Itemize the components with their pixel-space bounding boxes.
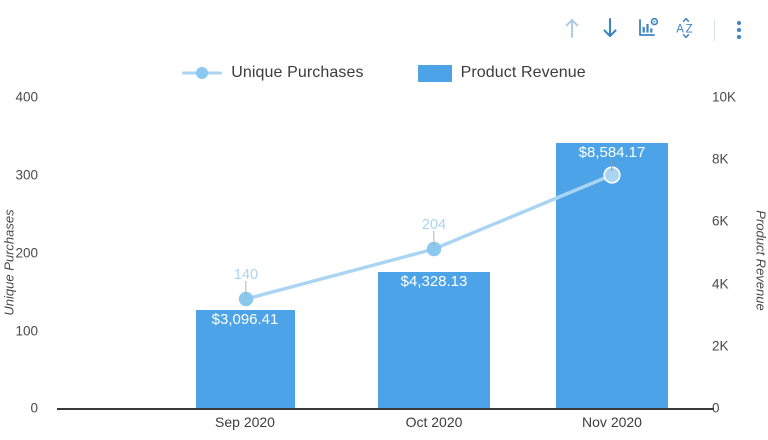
bar-value-oct-2020: $4,328.13	[401, 273, 468, 290]
bar-value-sep-2020: $3,096.41	[212, 311, 279, 328]
chart-widget: A Z Unique Purchases Product Revenue 400…	[0, 0, 768, 440]
y-axis-right-tick: 10K	[712, 90, 736, 105]
y-axis-right-tick: 6K	[712, 214, 729, 229]
y-axis-right-tick: 4K	[712, 277, 729, 292]
axis-cap-right	[705, 408, 714, 410]
y-axis-left-tick: 100	[15, 324, 38, 339]
x-axis-label-nov-2020: Nov 2020	[582, 414, 642, 430]
x-axis-line	[66, 408, 714, 410]
point-label-oct-2020: 204	[422, 217, 446, 233]
bar-value-nov-2020: $8,584.17	[579, 144, 646, 161]
y-axis-left-title: Unique Purchases	[2, 209, 17, 315]
point-stem-sep	[245, 281, 246, 298]
plot-area: 400 300 200 100 0 10K 8K 6K 4K 2K 0 Uniq…	[0, 0, 768, 440]
y-axis-left-tick: 300	[15, 168, 38, 183]
y-axis-right-title: Product Revenue	[754, 210, 768, 310]
bar-oct-2020[interactable]	[378, 272, 490, 408]
point-stem-oct	[433, 231, 434, 248]
y-axis-right-tick: 8K	[712, 152, 729, 167]
y-axis-left-tick: 200	[15, 246, 38, 261]
point-label-sep-2020: 140	[234, 267, 258, 283]
y-axis-right-tick: 2K	[712, 339, 729, 354]
y-axis-left-tick: 400	[15, 90, 38, 105]
y-axis-left-tick: 0	[30, 401, 38, 416]
bar-nov-2020[interactable]	[556, 143, 668, 408]
axis-cap-left	[57, 408, 66, 410]
x-axis-label-sep-2020: Sep 2020	[215, 414, 275, 430]
x-axis-label-oct-2020: Oct 2020	[406, 414, 463, 430]
